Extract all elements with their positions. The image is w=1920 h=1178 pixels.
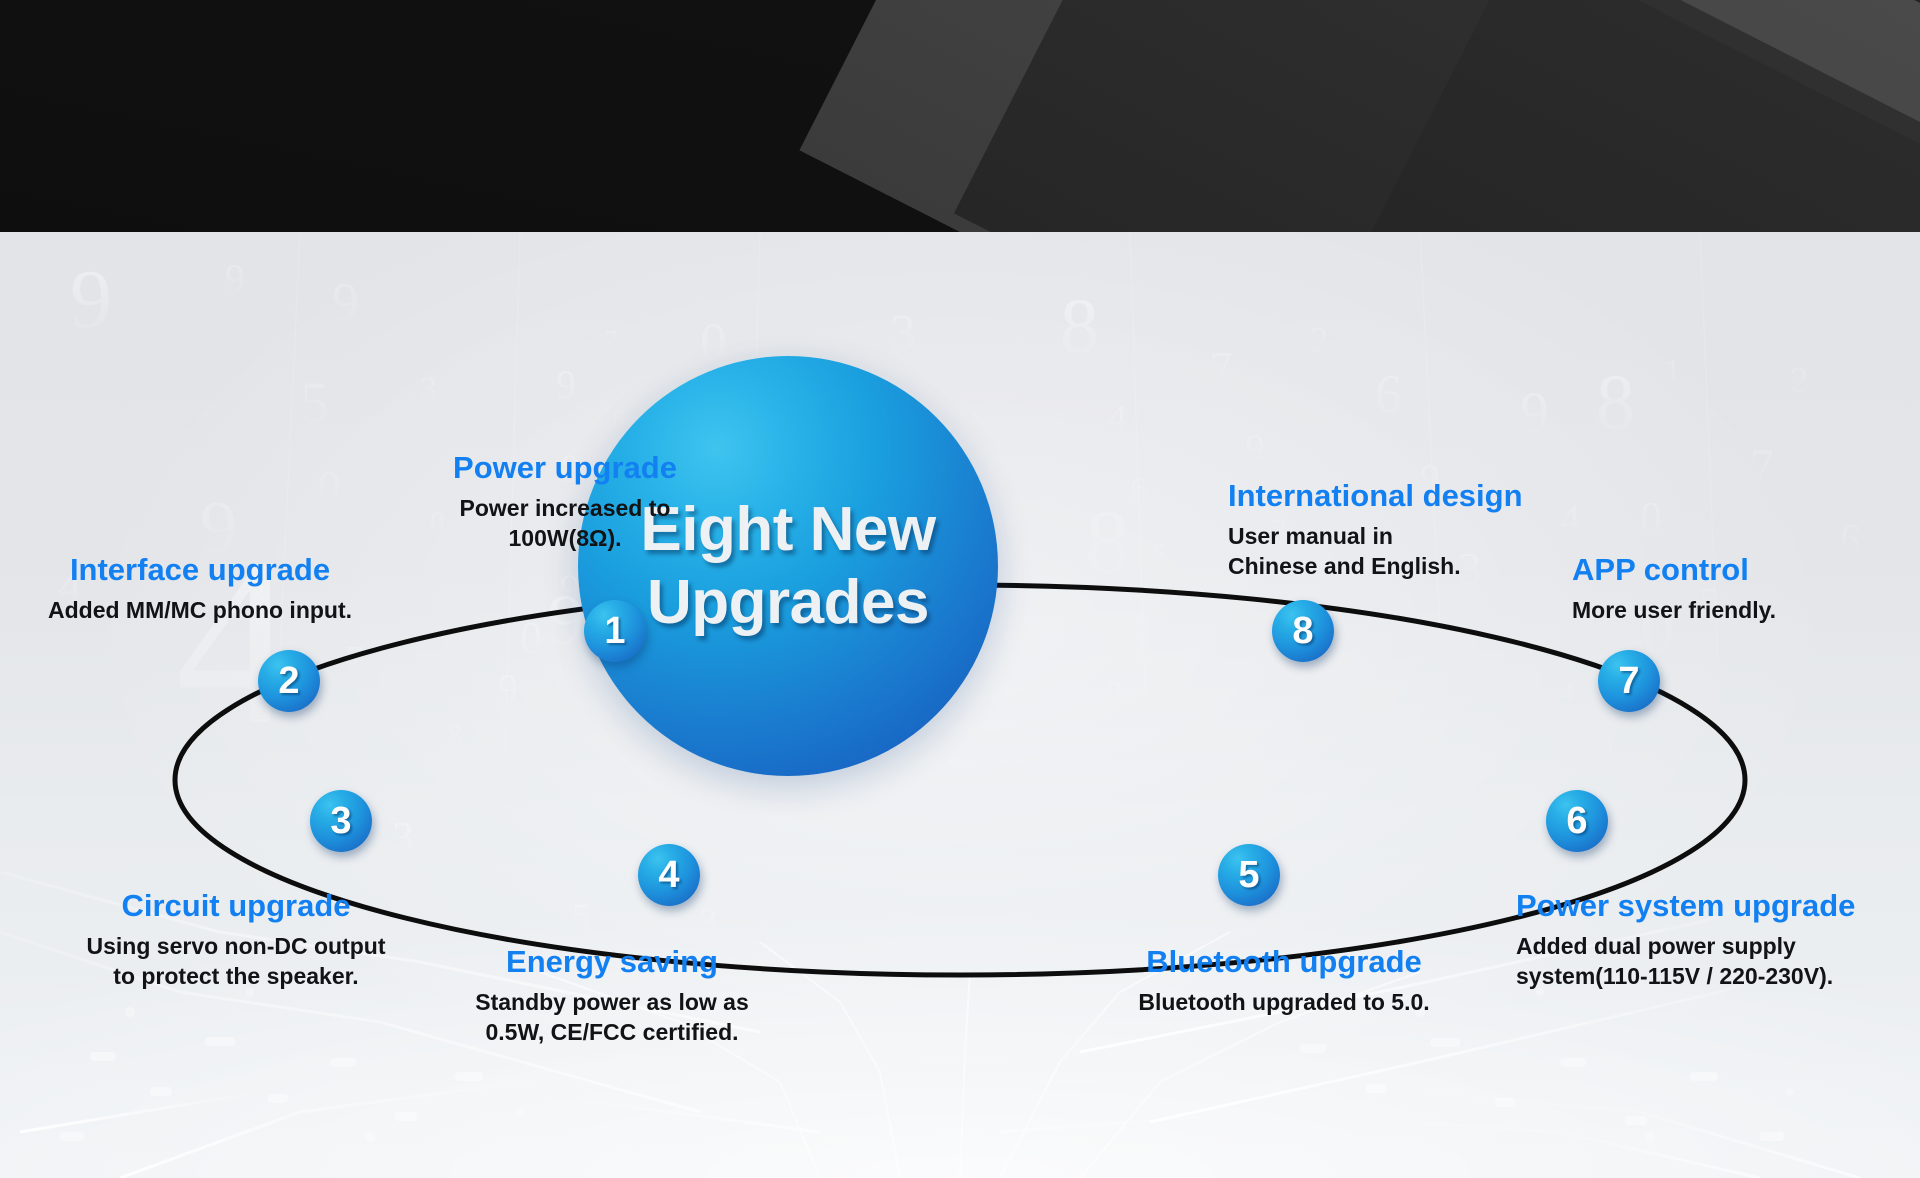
node-7[interactable]: 7	[1598, 650, 1660, 712]
node-5[interactable]: 5	[1218, 844, 1280, 906]
callout-title-3: Circuit upgrade	[36, 888, 436, 924]
callout-desc-4: Standby power as low as 0.5W, CE/FCC cer…	[424, 987, 800, 1048]
callout-power-system-upgrade: Power system upgrade Added dual power su…	[1516, 888, 1920, 992]
callout-bluetooth-upgrade: Bluetooth upgrade Bluetooth upgraded to …	[1100, 944, 1468, 1017]
center-sphere: Eight New Upgrades	[578, 356, 998, 776]
callout-title-5: Bluetooth upgrade	[1100, 944, 1468, 980]
node-6[interactable]: 6	[1546, 790, 1608, 852]
callout-energy-saving: Energy saving Standby power as low as 0.…	[424, 944, 800, 1048]
callout-interface-upgrade: Interface upgrade Added MM/MC phono inpu…	[0, 552, 400, 625]
callout-international-design: International design User manual in Chin…	[1228, 478, 1588, 582]
callout-desc-7: More user friendly.	[1572, 595, 1920, 625]
node-4[interactable]: 4	[638, 844, 700, 906]
callout-desc-2: Added MM/MC phono input.	[0, 595, 400, 625]
callout-circuit-upgrade: Circuit upgrade Using servo non-DC outpu…	[36, 888, 436, 992]
infographic-root: 9 9 4 4 9 3 5 0 9 7 3 3 0 8 9 0 9 9 0 9	[0, 0, 1920, 1178]
node-2[interactable]: 2	[258, 650, 320, 712]
node-1[interactable]: 1	[584, 600, 646, 662]
callout-title-2: Interface upgrade	[0, 552, 400, 588]
callout-title-8: International design	[1228, 478, 1588, 514]
callout-title-7: APP control	[1572, 552, 1920, 588]
callout-title-1: Power upgrade	[400, 450, 730, 486]
callout-desc-5: Bluetooth upgraded to 5.0.	[1100, 987, 1468, 1017]
top-dark-banner	[0, 0, 1920, 232]
callout-desc-6: Added dual power supply system(110-115V …	[1516, 931, 1920, 992]
callout-power-upgrade: Power upgrade Power increased to 100W(8Ω…	[400, 450, 730, 554]
callout-desc-1: Power increased to 100W(8Ω).	[400, 493, 730, 554]
callout-title-4: Energy saving	[424, 944, 800, 980]
callout-title-6: Power system upgrade	[1516, 888, 1920, 924]
callout-app-control: APP control More user friendly.	[1572, 552, 1920, 625]
callout-desc-8: User manual in Chinese and English.	[1228, 521, 1588, 582]
node-3[interactable]: 3	[310, 790, 372, 852]
callout-desc-3: Using servo non-DC output to protect the…	[36, 931, 436, 992]
node-8[interactable]: 8	[1272, 600, 1334, 662]
